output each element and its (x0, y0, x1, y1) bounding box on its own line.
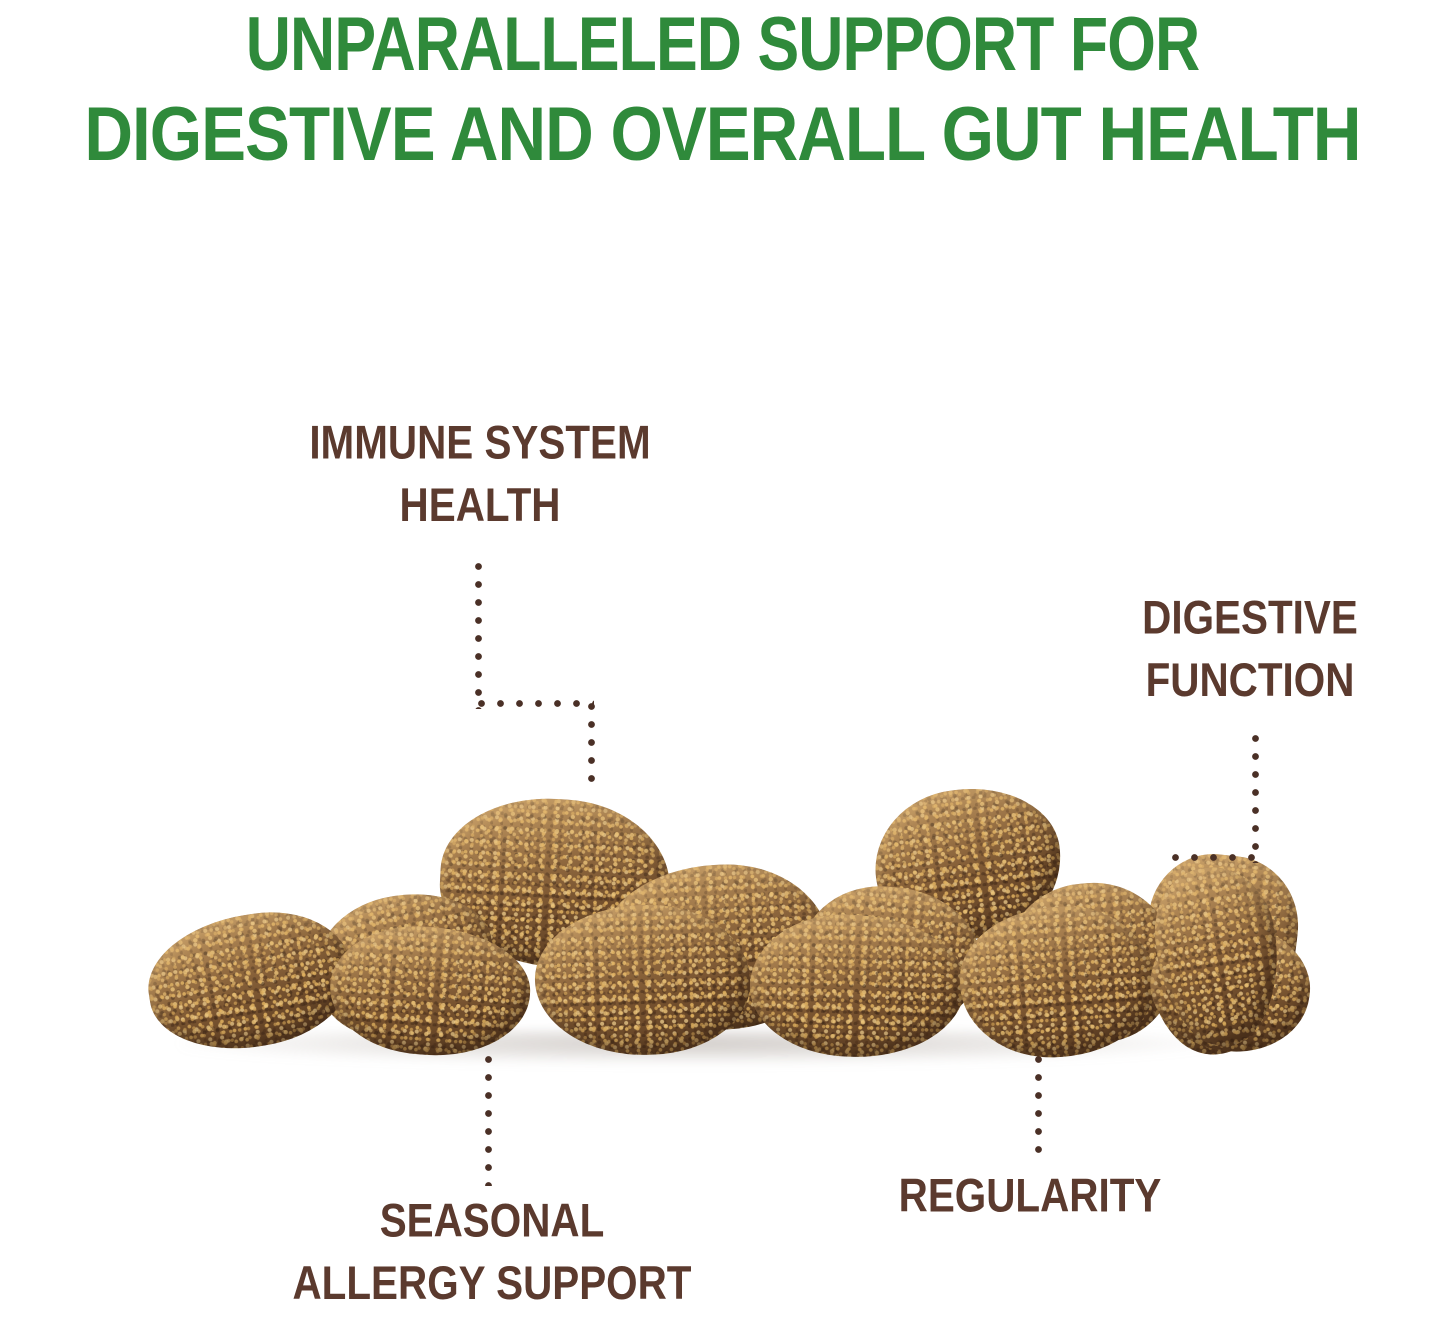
kibble-piece (139, 900, 362, 1062)
dog-food-kibble-pile (140, 775, 1300, 1065)
connector-segment-vertical (485, 1056, 492, 1186)
connector-segment-vertical (1252, 735, 1259, 863)
callout-label-regularity: REGULARITY (870, 1165, 1190, 1228)
callout-label-digestive-function: DIGESTIVE FUNCTION (1076, 587, 1424, 713)
connector-segment-horizontal (1172, 854, 1258, 861)
infographic-canvas: UNPARALLELED SUPPORT FOR DIGESTIVE AND O… (0, 0, 1445, 1323)
connector-segment-vertical (1035, 1056, 1042, 1157)
page-title-line-1: UNPARALLELED SUPPORT FOR (58, 6, 1387, 82)
connector-segment-vertical (475, 563, 482, 709)
connector-segment-horizontal (478, 700, 594, 707)
callout-label-immune-system: IMMUNE SYSTEM HEALTH (254, 412, 705, 538)
connector-segment-vertical (588, 703, 595, 787)
callout-label-seasonal-allergy-support: SEASONAL ALLERGY SUPPORT (248, 1190, 737, 1316)
page-title-line-2: DIGESTIVE AND OVERALL GUT HEALTH (7, 96, 1438, 172)
